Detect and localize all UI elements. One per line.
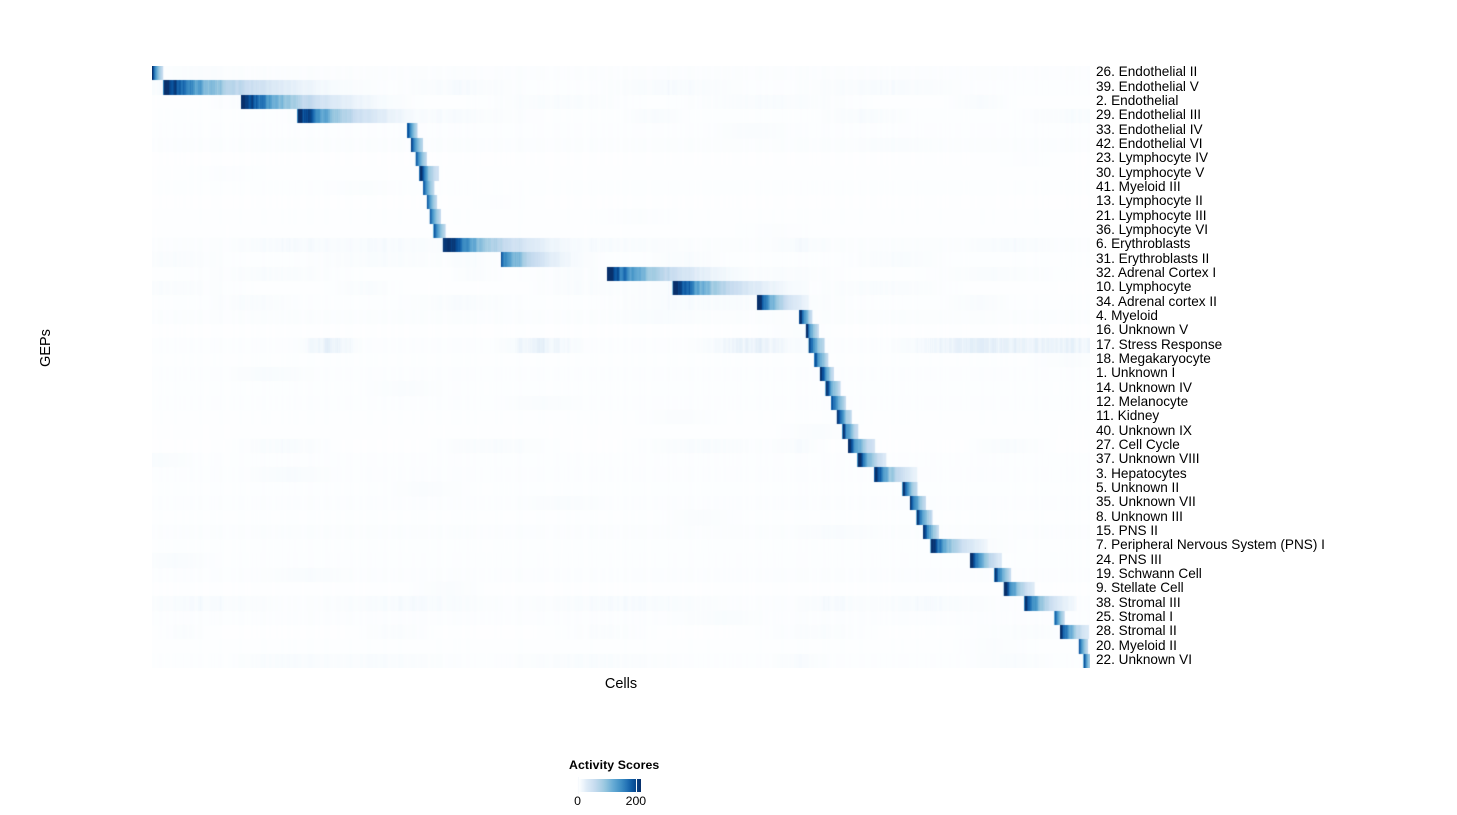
colorbar-tick-label: 200 [626, 794, 647, 808]
colorbar-tick [578, 777, 580, 794]
gep-row-label: 7. Peripheral Nervous System (PNS) I [1096, 538, 1325, 552]
gep-row-label: 26. Endothelial II [1096, 65, 1197, 79]
gep-row-label: 24. PNS III [1096, 553, 1162, 567]
gep-row-label: 18. Megakaryocyte [1096, 352, 1211, 366]
gep-row-label: 2. Endothelial [1096, 94, 1178, 108]
gep-row-label: 37. Unknown VIII [1096, 452, 1200, 466]
gep-row-label: 8. Unknown III [1096, 510, 1183, 524]
gep-row-label: 32. Adrenal Cortex I [1096, 266, 1216, 280]
gep-row-label: 33. Endothelial IV [1096, 123, 1203, 137]
gep-row-label: 27. Cell Cycle [1096, 438, 1180, 452]
colorbar-legend: Activity Scores 0200 [560, 758, 760, 814]
gep-row-label: 15. PNS II [1096, 524, 1158, 538]
y-axis-title: GEPs [38, 298, 54, 398]
heatmap-image [152, 66, 1090, 668]
colorbar-gradient [577, 779, 641, 792]
gep-row-label: 5. Unknown II [1096, 481, 1179, 495]
gep-row-label: 4. Myeloid [1096, 309, 1158, 323]
gep-row-label: 19. Schwann Cell [1096, 567, 1202, 581]
colorbar-tick [636, 777, 638, 794]
colorbar-title: Activity Scores [569, 758, 659, 772]
gep-row-label: 40. Unknown IX [1096, 424, 1192, 438]
gep-row-label: 16. Unknown V [1096, 323, 1188, 337]
gep-row-label: 10. Lymphocyte [1096, 280, 1191, 294]
gep-row-labels: 26. Endothelial II39. Endothelial V2. En… [1096, 66, 1446, 668]
x-axis-title: Cells [152, 676, 1090, 692]
heatmap-figure: Cells GEPs 26. Endothelial II39. Endothe… [0, 0, 1457, 815]
gep-row-label: 30. Lymphocyte V [1096, 166, 1204, 180]
gep-row-label: 42. Endothelial VI [1096, 137, 1203, 151]
gep-row-label: 22. Unknown VI [1096, 653, 1192, 667]
gep-row-label: 28. Stromal II [1096, 624, 1177, 638]
gep-row-label: 11. Kidney [1096, 409, 1159, 423]
gep-row-label: 20. Myeloid II [1096, 639, 1177, 653]
gep-row-label: 12. Melanocyte [1096, 395, 1188, 409]
colorbar-tick-label: 0 [574, 794, 581, 808]
gep-row-label: 25. Stromal I [1096, 610, 1173, 624]
gep-row-label: 9. Stellate Cell [1096, 581, 1184, 595]
gep-row-label: 23. Lymphocyte IV [1096, 151, 1208, 165]
gep-row-label: 36. Lymphocyte VI [1096, 223, 1208, 237]
gep-row-label: 3. Hepatocytes [1096, 467, 1187, 481]
gep-row-label: 17. Stress Response [1096, 338, 1222, 352]
gep-row-label: 1. Unknown I [1096, 366, 1175, 380]
gep-row-label: 21. Lymphocyte III [1096, 209, 1207, 223]
gep-row-label: 35. Unknown VII [1096, 495, 1196, 509]
gep-row-label: 38. Stromal III [1096, 596, 1181, 610]
gep-row-label: 29. Endothelial III [1096, 108, 1201, 122]
heatmap-plot-area [152, 66, 1090, 668]
gep-row-label: 41. Myeloid III [1096, 180, 1181, 194]
gep-row-label: 34. Adrenal cortex II [1096, 295, 1217, 309]
gep-row-label: 39. Endothelial V [1096, 80, 1199, 94]
gep-row-label: 13. Lymphocyte II [1096, 194, 1203, 208]
gep-row-label: 14. Unknown IV [1096, 381, 1192, 395]
gep-row-label: 31. Erythroblasts II [1096, 252, 1209, 266]
gep-row-label: 6. Erythroblasts [1096, 237, 1190, 251]
